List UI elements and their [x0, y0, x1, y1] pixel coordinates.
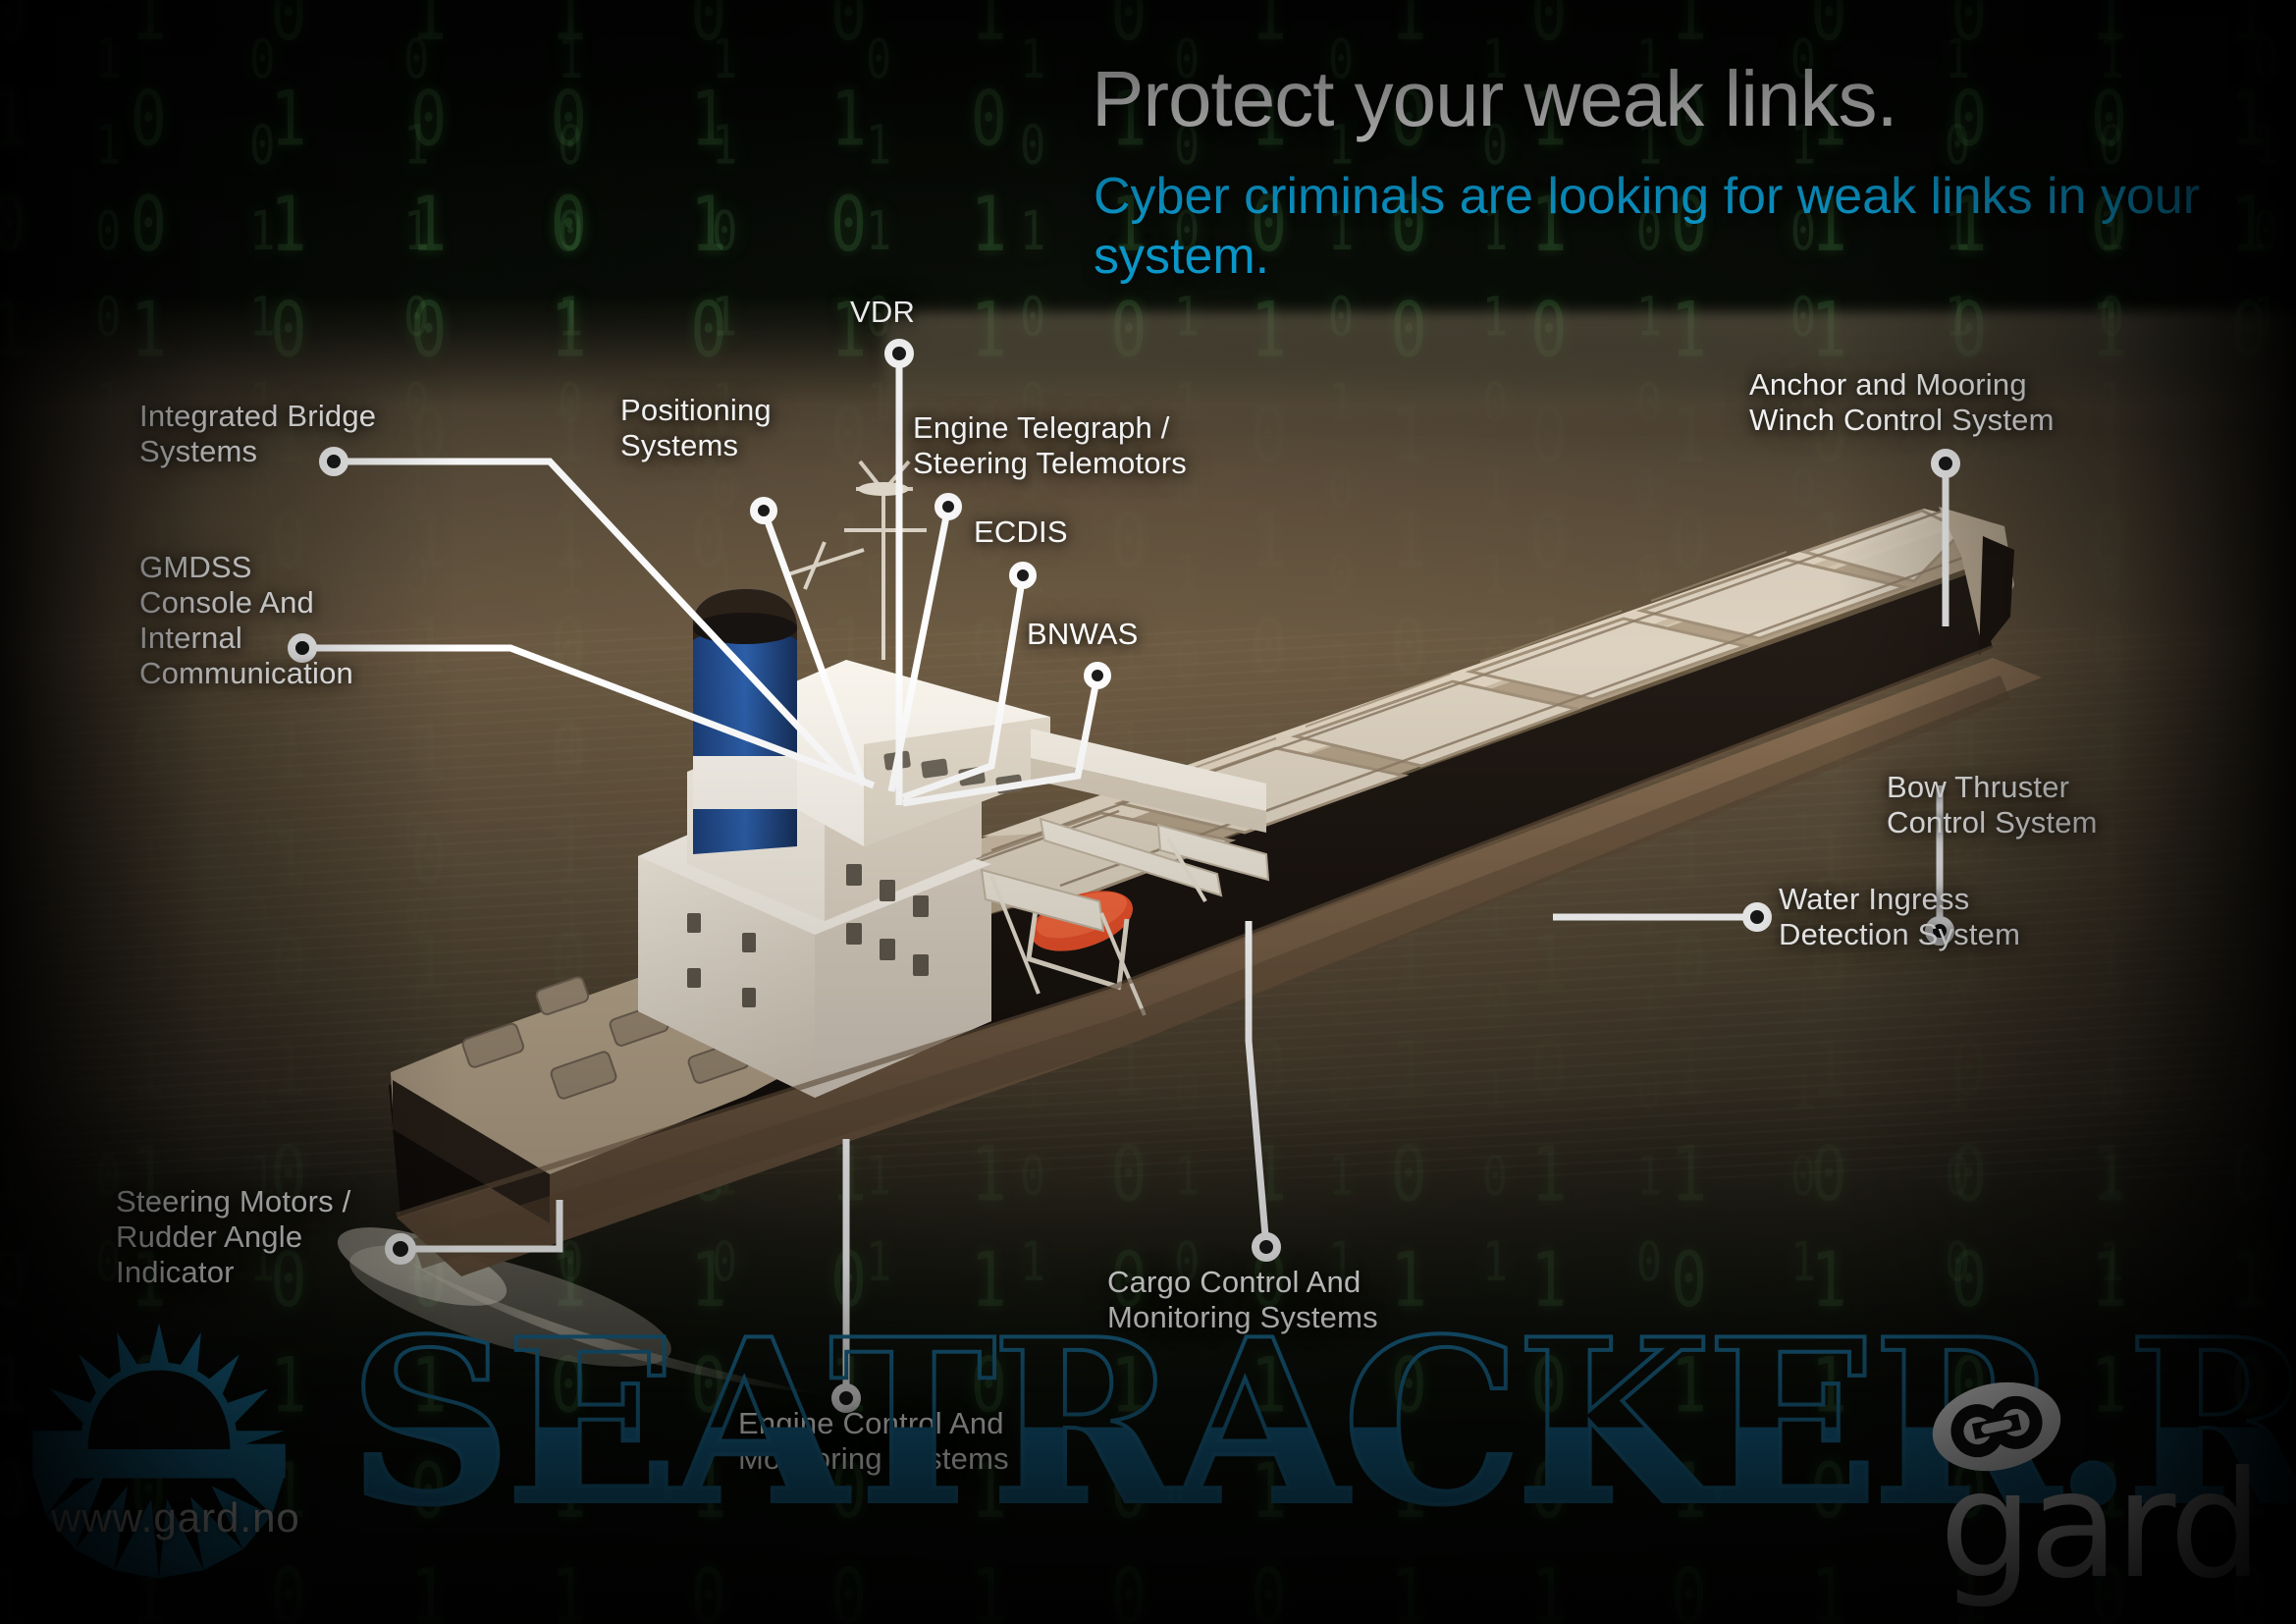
infographic-poster: 0 1 0 1 1 0 0 1 0 1 1 0 1 0 0 1 1 0 1 0 … — [0, 0, 2296, 1624]
vignette-overlay — [0, 0, 2296, 1624]
